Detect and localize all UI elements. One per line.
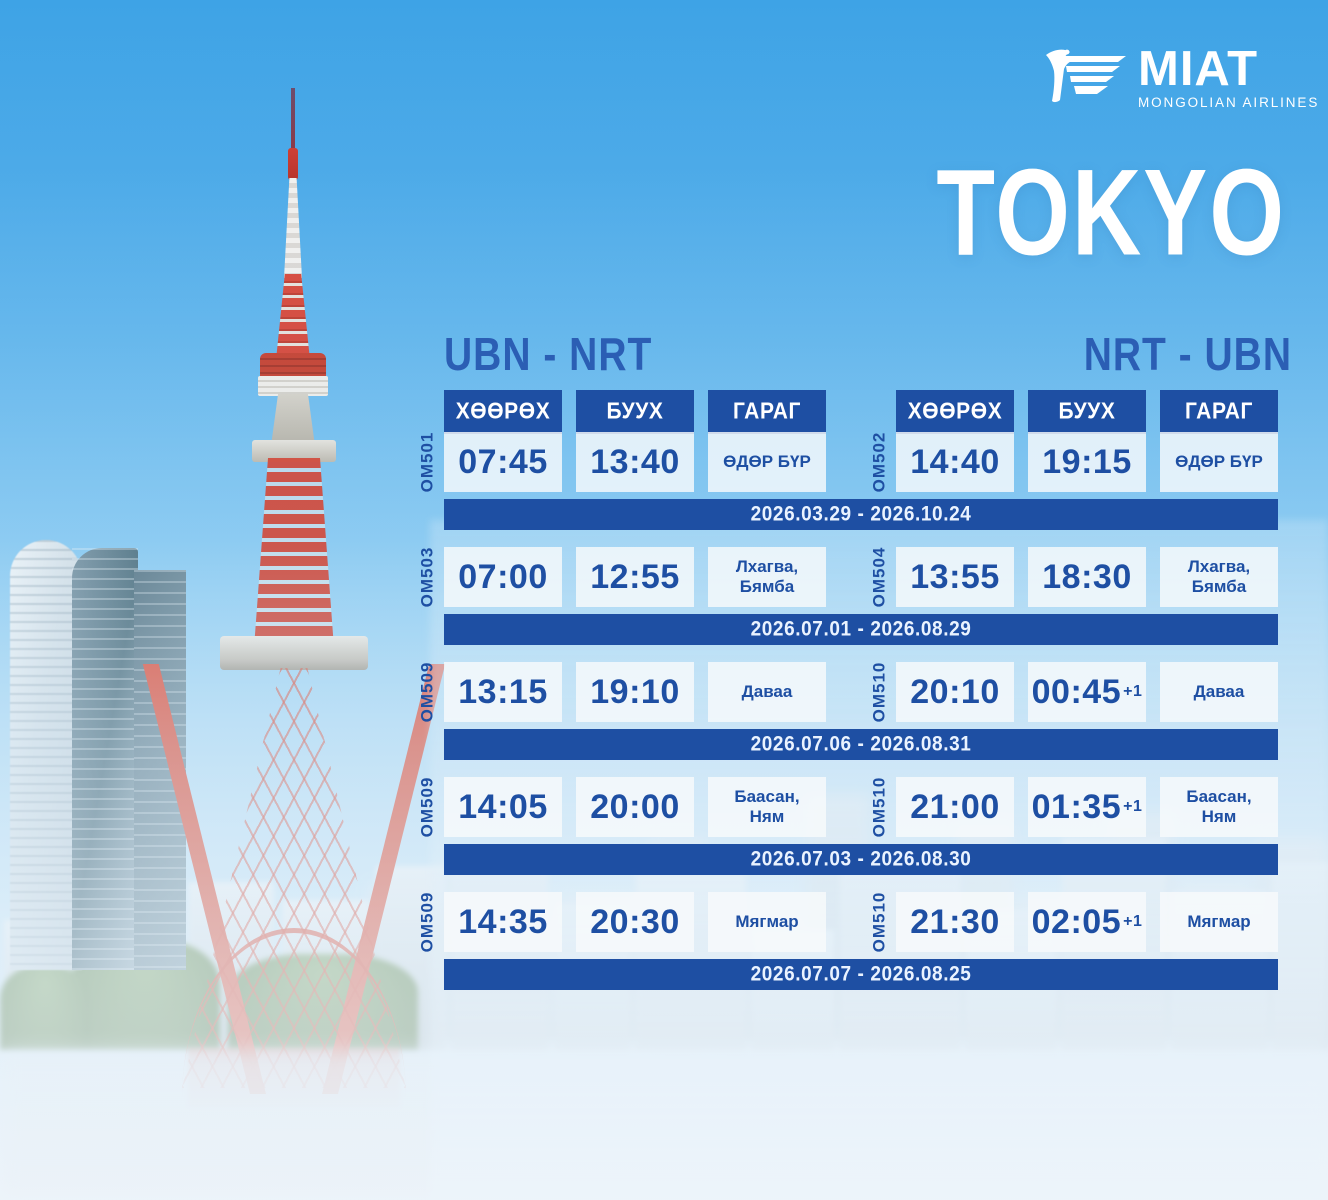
arrival-time-outbound: 13:40 <box>576 432 694 492</box>
flight-schedule-poster: MIAT MONGOLIAN AIRLINES TOKYO UBN - NRT … <box>0 0 1328 1200</box>
schedule-row: OM50107:4513:40ӨДӨР БҮРOM50214:4019:15ӨД… <box>404 432 1294 547</box>
arrival-time-outbound: 12:55 <box>576 547 694 607</box>
validity-period-text: 2026.03.29 - 2026.10.24 <box>751 502 972 527</box>
schedule-row: OM50914:0520:00Баасан,НямOM51021:0001:35… <box>404 777 1294 892</box>
departure-time-outbound: 07:45 <box>444 432 562 492</box>
validity-period-bar: 2026.07.07 - 2026.08.25 <box>444 959 1278 990</box>
arrival-time-outbound: 20:30 <box>576 892 694 952</box>
validity-period-text: 2026.07.06 - 2026.08.31 <box>751 732 972 757</box>
operating-days-outbound: ӨДӨР БҮР <box>708 432 826 492</box>
flight-row: OM50107:4513:40ӨДӨР БҮРOM50214:4019:15ӨД… <box>404 432 1294 492</box>
validity-period-text: 2026.07.03 - 2026.08.30 <box>751 847 972 872</box>
schedule-rows: OM50107:4513:40ӨДӨР БҮРOM50214:4019:15ӨД… <box>404 432 1294 990</box>
schedule-board: UBN - NRT NRT - UBN ХӨӨРӨХ БУУХ ГАРАГ ХӨ… <box>404 330 1294 990</box>
brand-name: MIAT <box>1138 46 1258 92</box>
departure-time-outbound: 14:35 <box>444 892 562 952</box>
flight-number-inbound: OM504 <box>866 547 892 607</box>
validity-period-bar: 2026.07.01 - 2026.08.29 <box>444 614 1278 645</box>
flight-number-label: OM509 <box>417 777 437 838</box>
validity-period-text: 2026.07.07 - 2026.08.25 <box>751 962 972 987</box>
flight-number-label: OM510 <box>869 662 889 723</box>
header-day-outbound: ГАРАГ <box>708 390 826 434</box>
departure-time-inbound: 20:10 <box>896 662 1014 722</box>
flight-number-inbound: OM510 <box>866 662 892 722</box>
flight-number-label: OM501 <box>417 432 437 493</box>
arrival-time-inbound: 02:05+1 <box>1028 892 1146 952</box>
departure-time-outbound: 07:00 <box>444 547 562 607</box>
next-day-indicator: +1 <box>1123 798 1142 816</box>
flight-number-outbound: OM503 <box>414 547 440 607</box>
flight-row: OM50913:1519:10ДавааOM51020:1000:45+1Дав… <box>404 662 1294 722</box>
arrival-time-inbound: 01:35+1 <box>1028 777 1146 837</box>
flight-number-label: OM502 <box>869 432 889 493</box>
schedule-row: OM50307:0012:55Лхагва,БямбаOM50413:5518:… <box>404 547 1294 662</box>
schedule-row: OM50913:1519:10ДавааOM51020:1000:45+1Дав… <box>404 662 1294 777</box>
route-titles: UBN - NRT NRT - UBN <box>404 330 1294 382</box>
flight-number-label: OM510 <box>869 777 889 838</box>
flight-row: OM50914:0520:00Баасан,НямOM51021:0001:35… <box>404 777 1294 837</box>
flight-number-outbound: OM509 <box>414 777 440 837</box>
flight-row: OM50914:3520:30МягмарOM51021:3002:05+1Мя… <box>404 892 1294 952</box>
validity-period-bar: 2026.03.29 - 2026.10.24 <box>444 499 1278 530</box>
flight-number-outbound: OM509 <box>414 662 440 722</box>
column-header-row: ХӨӨРӨХ БУУХ ГАРАГ ХӨӨРӨХ БУУХ ГАРАГ <box>404 392 1294 432</box>
flight-number-outbound: OM509 <box>414 892 440 952</box>
operating-days-outbound: Лхагва,Бямба <box>708 547 826 607</box>
flight-number-inbound: OM510 <box>866 892 892 952</box>
flight-number-inbound: OM502 <box>866 432 892 492</box>
operating-days-inbound: Баасан,Ням <box>1160 777 1278 837</box>
departure-time-outbound: 14:05 <box>444 777 562 837</box>
arrival-time-inbound: 00:45+1 <box>1028 662 1146 722</box>
schedule-row: OM50914:3520:30МягмарOM51021:3002:05+1Мя… <box>404 892 1294 990</box>
validity-period-bar: 2026.07.06 - 2026.08.31 <box>444 729 1278 760</box>
next-day-indicator: +1 <box>1123 913 1142 931</box>
row-spacer <box>404 875 1294 892</box>
header-day-inbound: ГАРАГ <box>1160 390 1278 434</box>
arrival-time-inbound: 19:15 <box>1028 432 1146 492</box>
arrival-time-outbound: 19:10 <box>576 662 694 722</box>
operating-days-inbound: Даваа <box>1160 662 1278 722</box>
flight-number-label: OM503 <box>417 547 437 608</box>
arrival-time-inbound: 18:30 <box>1028 547 1146 607</box>
route-title-outbound: UBN - NRT <box>444 330 652 382</box>
next-day-indicator: +1 <box>1123 683 1142 701</box>
departure-time-outbound: 13:15 <box>444 662 562 722</box>
validity-period-text: 2026.07.01 - 2026.08.29 <box>751 617 972 642</box>
arrival-time-outbound: 20:00 <box>576 777 694 837</box>
operating-days-outbound: Баасан,Ням <box>708 777 826 837</box>
departure-time-inbound: 13:55 <box>896 547 1014 607</box>
operating-days-outbound: Мягмар <box>708 892 826 952</box>
miat-bird-wing-icon <box>1040 47 1128 109</box>
header-departure-inbound: ХӨӨРӨХ <box>896 390 1014 434</box>
header-arrival-inbound: БУУХ <box>1028 390 1146 434</box>
operating-days-inbound: ӨДӨР БҮР <box>1160 432 1278 492</box>
departure-time-inbound: 21:00 <box>896 777 1014 837</box>
header-arrival-outbound: БУУХ <box>576 390 694 434</box>
validity-period-bar: 2026.07.03 - 2026.08.30 <box>444 844 1278 875</box>
operating-days-outbound: Даваа <box>708 662 826 722</box>
operating-days-inbound: Мягмар <box>1160 892 1278 952</box>
flight-number-label: OM504 <box>869 547 889 608</box>
flight-number-outbound: OM501 <box>414 432 440 492</box>
route-title-inbound: NRT - UBN <box>1084 330 1292 382</box>
departure-time-inbound: 21:30 <box>896 892 1014 952</box>
miat-logo: MIAT MONGOLIAN AIRLINES <box>1040 46 1319 110</box>
brand-tagline: MONGOLIAN AIRLINES <box>1138 95 1319 110</box>
departure-time-inbound: 14:40 <box>896 432 1014 492</box>
page-title: TOKYO <box>936 152 1286 275</box>
flight-number-inbound: OM510 <box>866 777 892 837</box>
header-departure-outbound: ХӨӨРӨХ <box>444 390 562 434</box>
flight-number-label: OM510 <box>869 892 889 953</box>
flight-row: OM50307:0012:55Лхагва,БямбаOM50413:5518:… <box>404 547 1294 607</box>
flight-number-label: OM509 <box>417 892 437 953</box>
row-spacer <box>404 530 1294 547</box>
row-spacer <box>404 645 1294 662</box>
row-spacer <box>404 760 1294 777</box>
operating-days-inbound: Лхагва,Бямба <box>1160 547 1278 607</box>
flight-number-label: OM509 <box>417 662 437 723</box>
